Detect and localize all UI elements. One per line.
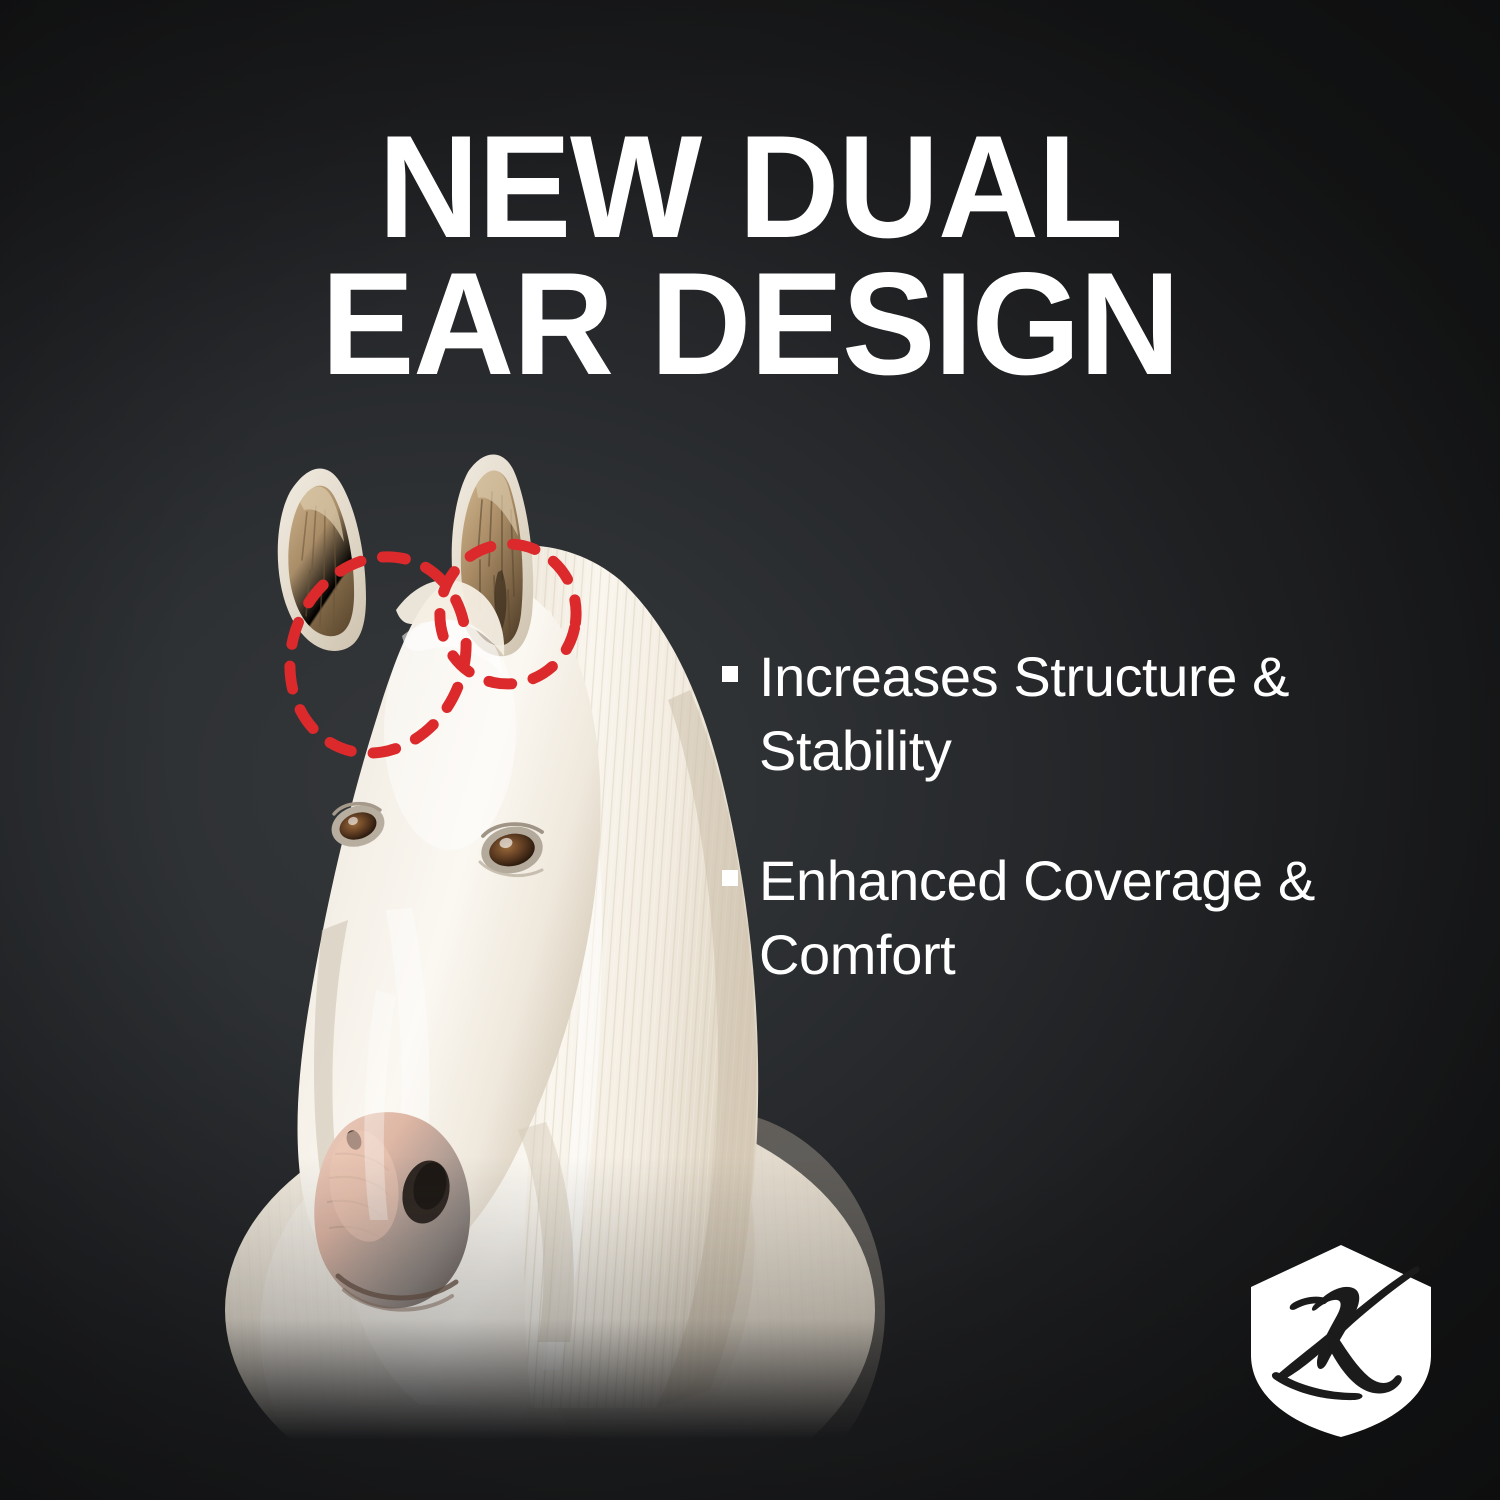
list-item: Enhanced Coverage & Comfort: [722, 844, 1422, 992]
list-item: Increases Structure & Stability: [722, 640, 1422, 788]
square-bullet-icon: [722, 666, 738, 682]
promo-graphic: NEW DUAL EAR DESIGN Increases Structure …: [0, 0, 1500, 1500]
square-bullet-icon: [722, 870, 738, 886]
feature-text: Enhanced Coverage & Comfort: [759, 844, 1399, 992]
feature-list: Increases Structure & Stability Enhanced…: [722, 640, 1422, 1048]
feature-text: Increases Structure & Stability: [759, 640, 1399, 788]
brand-logo: [1247, 1243, 1435, 1439]
